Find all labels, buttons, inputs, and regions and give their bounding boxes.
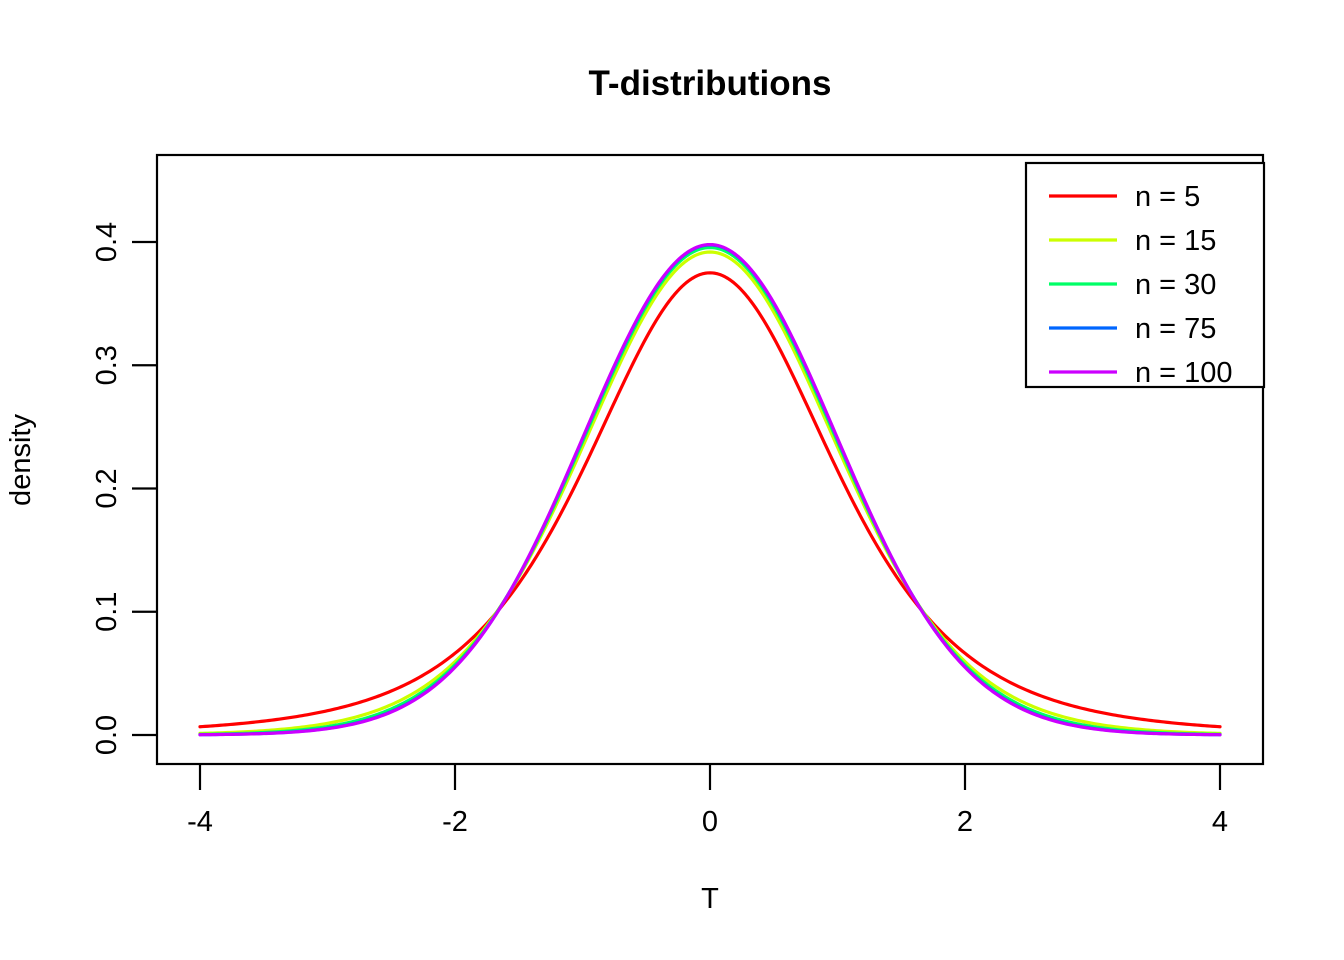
x-tick-label: -2	[442, 806, 468, 838]
y-axis-title: density	[5, 414, 37, 506]
y-tick-label: 0.4	[91, 222, 123, 262]
y-tick-label: 0.3	[91, 345, 123, 385]
plot-root: T-distributions -4-2024 0.00.10.20.30.4 …	[0, 0, 1344, 960]
x-tick-label: -4	[187, 806, 213, 838]
legend-label: n = 15	[1135, 225, 1216, 257]
page-title: T-distributions	[588, 64, 831, 103]
x-tick-label: 4	[1212, 806, 1228, 838]
x-tick-label: 0	[702, 806, 718, 838]
x-axis-title: T	[701, 883, 719, 915]
x-tick-label: 2	[957, 806, 973, 838]
t-distribution-plot: T-distributions -4-2024 0.00.10.20.30.4 …	[0, 0, 1344, 960]
y-tick-label: 0.1	[91, 592, 123, 632]
legend-label: n = 75	[1135, 313, 1216, 345]
y-tick-label: 0.2	[91, 468, 123, 508]
legend-label: n = 100	[1135, 357, 1233, 389]
legend[interactable]: n = 5n = 15n = 30n = 75n = 100	[1026, 163, 1264, 389]
y-tick-label: 0.0	[91, 715, 123, 755]
legend-label: n = 5	[1135, 181, 1200, 213]
legend-label: n = 30	[1135, 269, 1216, 301]
